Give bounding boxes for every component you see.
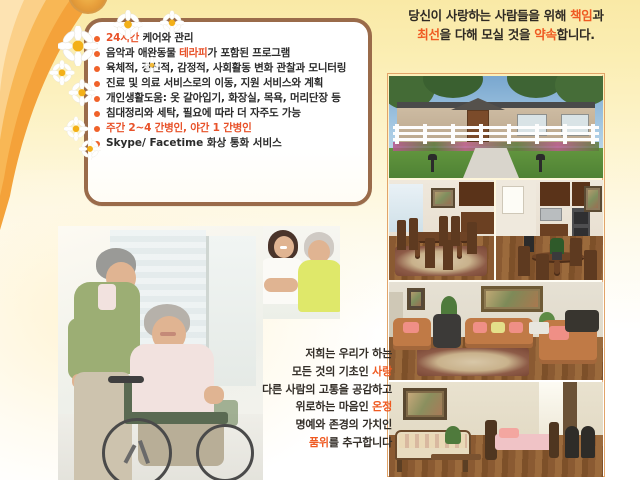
service-text-1: 음악과 애완동물 테라피가 포함된 프로그램 <box>106 47 290 59</box>
bedroom-parlor-photo <box>389 382 603 477</box>
bullet-dot-icon <box>94 51 100 57</box>
motto-line-1: 저희는 우리가 하는 <box>232 345 392 363</box>
bullet-dot-icon <box>94 66 100 72</box>
service-text-5: 침대정리와 세탁, 필요에 따라 더 자주도 가능 <box>106 107 301 119</box>
headline-accent-best: 최선 <box>417 27 439 42</box>
motto-line-4: 위로하는 마음인 온정 <box>232 398 392 416</box>
motto-line-6: 품위를 추구합니다 <box>232 434 392 452</box>
motto-line-3: 다른 사람의 고통을 공감하고 <box>160 381 392 399</box>
page-headline: 당신이 사랑하는 사람들을 위해 책임과 최선을 다해 모실 것을 약속합니다. <box>372 6 640 45</box>
list-item: Skype/ Facetime 화상 통화 서비스 <box>94 137 362 149</box>
list-item: 육체적, 정신적, 감정적, 사회활동 변화 관찰과 모니터링 <box>94 62 362 74</box>
bullet-dot-icon <box>94 36 100 42</box>
motto-line-5: 명예와 존경의 가치인 <box>196 416 392 434</box>
motto-accent-love: 사랑 <box>372 365 392 378</box>
motto-text-block: 저희는 우리가 하는 모든 것의 기초인 사랑 다른 사람의 고통을 공감하고 … <box>232 345 392 452</box>
motto-accent-dignity: 품위 <box>309 436 329 449</box>
service-text-4: 개인생활도움: 옷 갈아입기, 화장실, 목욕, 머리단장 등 <box>106 92 341 104</box>
headline-accent-responsibility: 책임 <box>570 8 592 23</box>
bullet-dot-icon <box>94 81 100 87</box>
service-text-7: Skype/ Facetime 화상 통화 서비스 <box>106 137 282 149</box>
list-item: 주간 2~4 간병인, 야간 1 간병인 <box>94 122 362 134</box>
poster-root: 당신이 사랑하는 사람들을 위해 책임과 최선을 다해 모실 것을 약속합니다.… <box>0 0 640 480</box>
exterior-house-photo <box>389 76 603 178</box>
bullet-dot-icon <box>94 141 100 147</box>
list-item: 개인생활도움: 옷 갈아입기, 화장실, 목욕, 머리단장 등 <box>94 92 362 104</box>
service-text-0: 24시간 케어와 관리 <box>106 32 193 44</box>
services-panel: 24시간 케어와 관리 음악과 애완동물 테라피가 포함된 프로그램 육체적, … <box>84 18 372 206</box>
bullet-dot-icon <box>94 96 100 102</box>
bullet-dot-icon <box>94 111 100 117</box>
service-text-3: 진료 및 의료 서비스로의 이동, 지원 서비스와 계획 <box>106 77 323 89</box>
list-item: 음악과 애완동물 테라피가 포함된 프로그램 <box>94 47 362 59</box>
motto-line-2: 모든 것의 기초인 사랑 <box>232 363 392 381</box>
list-item: 침대정리와 세탁, 필요에 따라 더 자주도 가능 <box>94 107 362 119</box>
headline-line-1: 당신이 사랑하는 사람들을 위해 책임과 <box>408 8 603 23</box>
motto-accent-warmth: 온정 <box>372 400 392 413</box>
headline-accent-promise: 약속 <box>534 27 556 42</box>
headline-line-2: 최선을 다해 모실 것을 약속합니다. <box>417 27 594 42</box>
dining-room-photo <box>389 180 494 280</box>
kitchen-photo <box>496 180 603 280</box>
service-text-2: 육체적, 정신적, 감정적, 사회활동 변화 관찰과 모니터링 <box>106 62 346 74</box>
list-item: 진료 및 의료 서비스로의 이동, 지원 서비스와 계획 <box>94 77 362 89</box>
services-list: 24시간 케어와 관리 음악과 애완동물 테라피가 포함된 프로그램 육체적, … <box>94 32 362 153</box>
living-room-photo <box>389 282 603 380</box>
service-text-6: 주간 2~4 간병인, 야간 1 간병인 <box>106 122 252 134</box>
list-item: 24시간 케어와 관리 <box>94 32 362 44</box>
bullet-dot-icon <box>94 126 100 132</box>
